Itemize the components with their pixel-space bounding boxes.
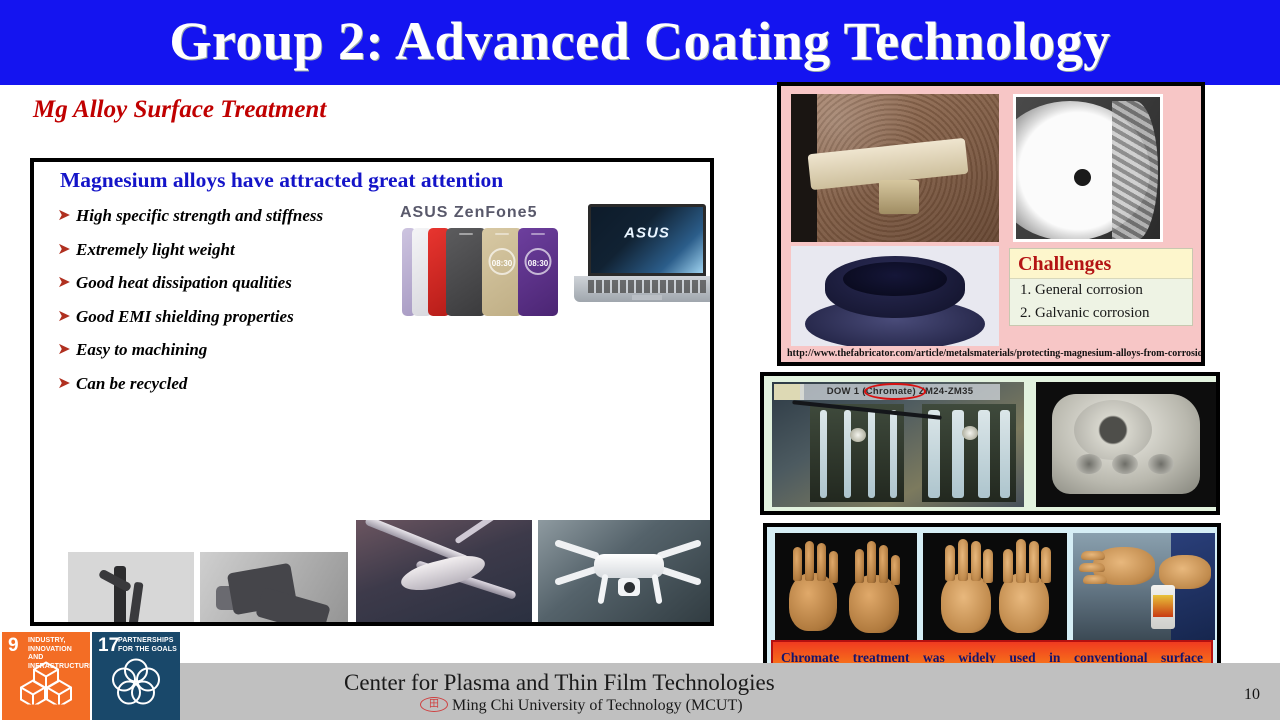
list-item: ➤ Easy to machining — [52, 338, 382, 372]
phone-clock-label: 08:30 — [489, 248, 516, 275]
test-panel-left — [810, 404, 904, 502]
laptop-base — [574, 276, 714, 302]
chromate-damaged-hands-palm-photo — [923, 533, 1067, 640]
corroded-magnesium-bowl-photo — [791, 246, 999, 358]
cubes-icon — [20, 659, 72, 710]
list-item: ➤ Good EMI shielding properties — [52, 305, 382, 339]
sdg-goal-17-badge: 17 PARTNERSHIPS FOR THE GOALS — [92, 632, 180, 720]
challenges-callout: Challenges 1. General corrosion 2. Galva… — [1009, 248, 1193, 326]
exoskeleton-robot-photo — [68, 552, 194, 626]
list-item: ➤ Can be recycled — [52, 372, 382, 406]
panel-heading: Magnesium alloys have attracted great at… — [60, 168, 503, 193]
challenge-item: 1. General corrosion — [1010, 279, 1192, 302]
sdg-number: 17 — [98, 636, 119, 655]
phone-clock-label: 08:30 — [525, 248, 552, 275]
left-content-panel: Magnesium alloys have attracted great at… — [30, 158, 714, 626]
list-item-label: Can be recycled — [76, 372, 187, 396]
laptop-trackpad — [632, 295, 662, 300]
laptop-keyboard — [588, 280, 706, 293]
subtitle: Mg Alloy Surface Treatment — [33, 96, 326, 124]
list-item-label: Good heat dissipation qualities — [76, 271, 292, 295]
bullet-arrow-icon: ➤ — [52, 338, 76, 362]
list-item-label: Extremely light weight — [76, 238, 235, 262]
magnesium-cast-housing-photo — [1036, 382, 1216, 507]
list-item: ➤ Extremely light weight — [52, 238, 382, 272]
phone-row: 08:30 08:30 — [402, 228, 554, 316]
worker-hand-with-chemical-bottle-photo — [1073, 533, 1215, 640]
bullet-arrow-icon: ➤ — [52, 305, 76, 329]
source-url-link[interactable]: http://www.thefabricator.com/article/met… — [781, 346, 1201, 362]
list-item-label: High specific strength and stiffness — [76, 204, 323, 228]
challenges-title: Challenges — [1010, 249, 1192, 279]
bullet-arrow-icon: ➤ — [52, 372, 76, 396]
sdg-number: 9 — [8, 636, 19, 655]
phone-gold: 08:30 — [482, 228, 522, 316]
slide-root: Group 2: Advanced Coating Technology Mg … — [0, 0, 1280, 720]
quadcopter-drone-photo — [538, 520, 714, 624]
laptop-screen: ASUS — [588, 204, 706, 276]
chemical-bottle — [1151, 585, 1175, 629]
red-highlight-ellipse-icon — [864, 383, 926, 400]
salt-spray-corrosion-test-panels-photo: DOW 1 (Chromate) ZM24-ZM35 — [772, 382, 1024, 507]
phone-purple: 08:30 — [518, 228, 558, 316]
bullet-arrow-icon: ➤ — [52, 204, 76, 228]
organization-subtitle: Ming Chi University of Technology (MCUT) — [420, 697, 743, 715]
list-item-label: Easy to machining — [76, 338, 207, 362]
corrosion-examples-box: Challenges 1. General corrosion 2. Galva… — [777, 82, 1205, 366]
business-jet-photo — [356, 520, 532, 624]
list-item: ➤ High specific strength and stiffness — [52, 204, 382, 238]
asus-laptop-photo: ASUS — [574, 204, 714, 314]
asus-brand-label: ASUS ZenFone5 — [400, 204, 537, 222]
circles-icon — [110, 657, 162, 712]
bullet-arrow-icon: ➤ — [52, 271, 76, 295]
sdg-label: PARTNERSHIPS FOR THE GOALS — [118, 637, 178, 654]
list-item: ➤ Good heat dissipation qualities — [52, 271, 382, 305]
bullet-arrow-icon: ➤ — [52, 238, 76, 262]
page-title: Group 2: Advanced Coating Technology — [0, 6, 1280, 76]
advantages-list: ➤ High specific strength and stiffness ➤… — [52, 204, 382, 405]
asus-zenfone5-phones-photo: ASUS ZenFone5 08:30 08:30 — [386, 204, 596, 329]
corroded-bracket-photo — [791, 94, 999, 242]
chromate-damaged-hands-back-photo — [775, 533, 917, 640]
page-number: 10 — [1244, 686, 1260, 704]
challenge-item: 2. Galvanic corrosion — [1010, 302, 1192, 325]
corroded-wheel-hub-photo — [1013, 94, 1163, 242]
list-item-label: Good EMI shielding properties — [76, 305, 294, 329]
phone-gray — [446, 228, 486, 316]
exoskeleton-joint-photo: 新材料产业 — [200, 552, 348, 626]
sdg-goal-9-badge: 9 INDUSTRY, INNOVATION AND INFRASTRUCTUR… — [2, 632, 90, 720]
salt-spray-test-box: DOW 1 (Chromate) ZM24-ZM35 — [760, 372, 1220, 515]
mcut-logo-icon — [420, 697, 448, 712]
organization-title: Center for Plasma and Thin Film Technolo… — [344, 670, 775, 696]
laptop-logo-label: ASUS — [624, 225, 670, 242]
